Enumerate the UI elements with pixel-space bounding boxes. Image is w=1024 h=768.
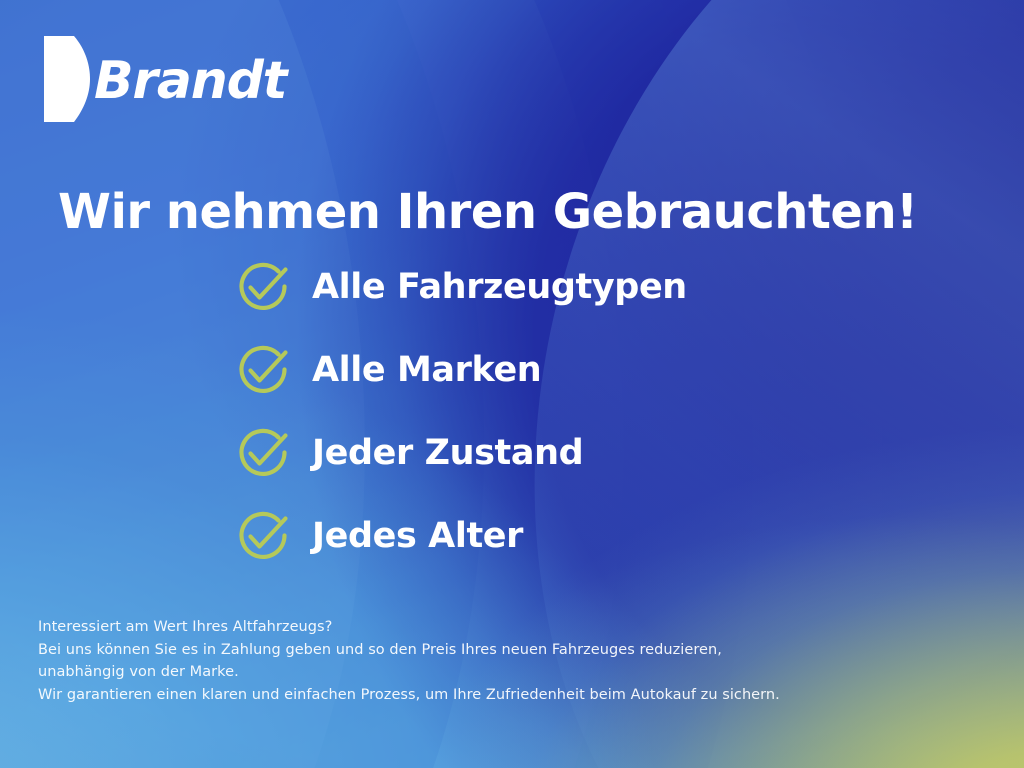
list-item-label: Jeder Zustand [312,436,583,471]
list-item-label: Jedes Alter [312,519,523,554]
list-item: Jeder Zustand [234,424,687,482]
brand-logo[interactable]: Brandt [44,36,286,122]
list-item: Alle Fahrzeugtypen [234,258,687,316]
circle-check-icon [234,507,292,565]
description-line: Wir garantieren einen klaren und einfach… [38,684,988,707]
list-item: Jedes Alter [234,507,687,565]
banner-content: Brandt Wir nehmen Ihren Gebrauchten! All… [0,0,1024,768]
description-line: Interessiert am Wert Ihres Altfahrzeugs? [38,616,988,639]
page-title: Wir nehmen Ihren Gebrauchten! [58,187,978,237]
list-item-label: Alle Fahrzeugtypen [312,270,687,305]
promo-banner: Brandt Wir nehmen Ihren Gebrauchten! All… [0,0,1024,768]
circle-check-icon [234,424,292,482]
description-text: Interessiert am Wert Ihres Altfahrzeugs?… [38,616,988,706]
circle-check-icon [234,341,292,399]
list-item-label: Alle Marken [312,353,541,388]
circle-check-icon [234,258,292,316]
benefits-list: Alle Fahrzeugtypen Alle Marken Jeder Zus… [234,258,687,565]
brandt-bracket-mark-icon [44,36,90,122]
description-line: Bei uns können Sie es in Zahlung geben u… [38,639,988,662]
description-line: unabhängig von der Marke. [38,661,988,684]
brand-wordmark: Brandt [94,55,286,107]
list-item: Alle Marken [234,341,687,399]
